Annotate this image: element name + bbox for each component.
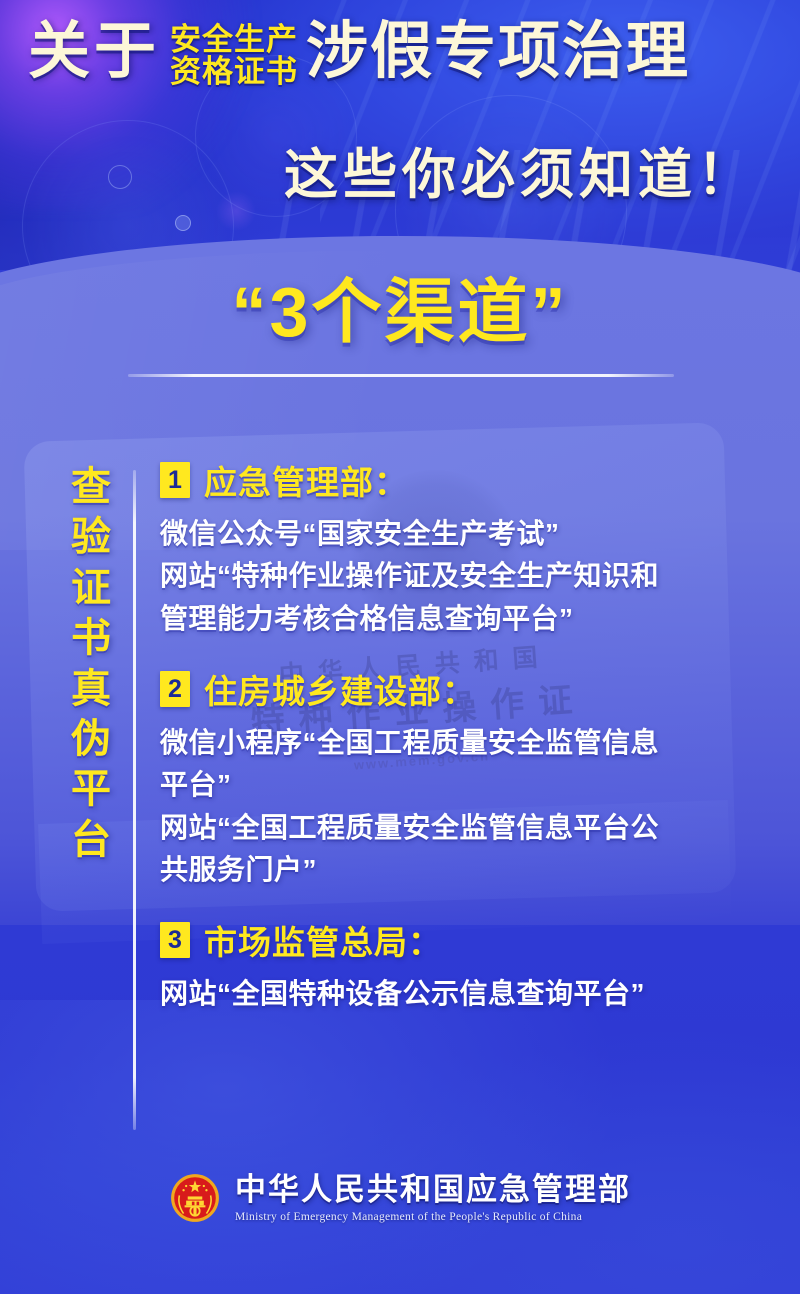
channel-item-line: 网站“全国特种设备公示信息查询平台” — [160, 974, 760, 1014]
header-title-row: 关于 安全生产 资格证书 涉假专项治理 — [28, 20, 778, 87]
channel-item-line: 网站“特种作业操作证及安全生产知识和 — [160, 556, 760, 596]
header-inset-line-1: 安全生产 — [170, 24, 298, 56]
vertical-label-char: 查 — [58, 462, 124, 512]
channel-item-title: 住房城乡建设部： — [204, 665, 476, 713]
header-inset-block: 安全生产 资格证书 — [170, 24, 298, 87]
channel-item-line: 微信公众号“国家安全生产考试” — [160, 514, 760, 554]
section-divider — [128, 374, 674, 377]
footer-text-block: 中华人民共和国应急管理部 Ministry of Emergency Manag… — [235, 1173, 631, 1223]
footer-org-en: Ministry of Emergency Management of the … — [235, 1211, 631, 1223]
channel-item-line: 管理能力考核合格信息查询平台” — [160, 599, 760, 639]
poster-root: 中华人民共和国 特种作业操作证 www.mem.gov.cn 关于 安全生产 资… — [0, 0, 800, 1294]
channel-item: 1 应急管理部： 微信公众号“国家安全生产考试” 网站“特种作业操作证及安全生产… — [160, 456, 760, 639]
channel-item-title: 市场监管总局： — [204, 916, 442, 964]
vertical-label-char: 书 — [58, 613, 124, 663]
channel-item-line: 网站“全国工程质量安全监管信息平台公 — [160, 808, 760, 848]
channel-item-header: 2 住房城乡建设部： — [160, 665, 760, 713]
channel-item-line: 微信小程序“全国工程质量安全监管信息 — [160, 723, 760, 763]
footer-sheen-decoration — [0, 1000, 800, 1294]
vertical-label-char: 证 — [58, 563, 124, 613]
vertical-label-char: 伪 — [58, 714, 124, 764]
channel-number-badge: 1 — [160, 462, 190, 498]
header-prefix: 关于 — [28, 20, 160, 83]
channel-item-line: 平台” — [160, 765, 760, 805]
channel-number-badge: 2 — [160, 671, 190, 707]
vertical-label-char: 台 — [58, 815, 124, 865]
poster-header: 关于 安全生产 资格证书 涉假专项治理 这些你必须知道！ — [0, 0, 800, 236]
header-inset-line-2: 资格证书 — [170, 56, 298, 88]
vertical-label-char: 验 — [58, 512, 124, 562]
channel-item-line: 共服务门户” — [160, 850, 760, 890]
header-subtitle: 这些你必须知道！ — [284, 130, 756, 209]
vertical-label: 查 验 证 书 真 伪 平 台 — [58, 462, 124, 865]
vertical-label-char: 平 — [58, 764, 124, 814]
footer-org-cn: 中华人民共和国应急管理部 — [235, 1173, 631, 1207]
channel-item: 2 住房城乡建设部： 微信小程序“全国工程质量安全监管信息 平台” 网站“全国工… — [160, 665, 760, 890]
poster-footer: 中华人民共和国应急管理部 Ministry of Emergency Manag… — [0, 1172, 800, 1224]
section-title: “3个渠道” — [0, 256, 800, 357]
channel-list: 1 应急管理部： 微信公众号“国家安全生产考试” 网站“特种作业操作证及安全生产… — [160, 456, 760, 1041]
vertical-divider-rule — [133, 470, 136, 1130]
national-emblem-icon — [169, 1172, 221, 1224]
header-main-title: 涉假专项治理 — [306, 20, 690, 83]
vertical-label-char: 真 — [58, 664, 124, 714]
channel-number-badge: 3 — [160, 922, 190, 958]
channel-item-title: 应急管理部： — [204, 456, 408, 504]
channel-item: 3 市场监管总局： 网站“全国特种设备公示信息查询平台” — [160, 916, 760, 1014]
channel-item-header: 1 应急管理部： — [160, 456, 760, 504]
channel-item-header: 3 市场监管总局： — [160, 916, 760, 964]
